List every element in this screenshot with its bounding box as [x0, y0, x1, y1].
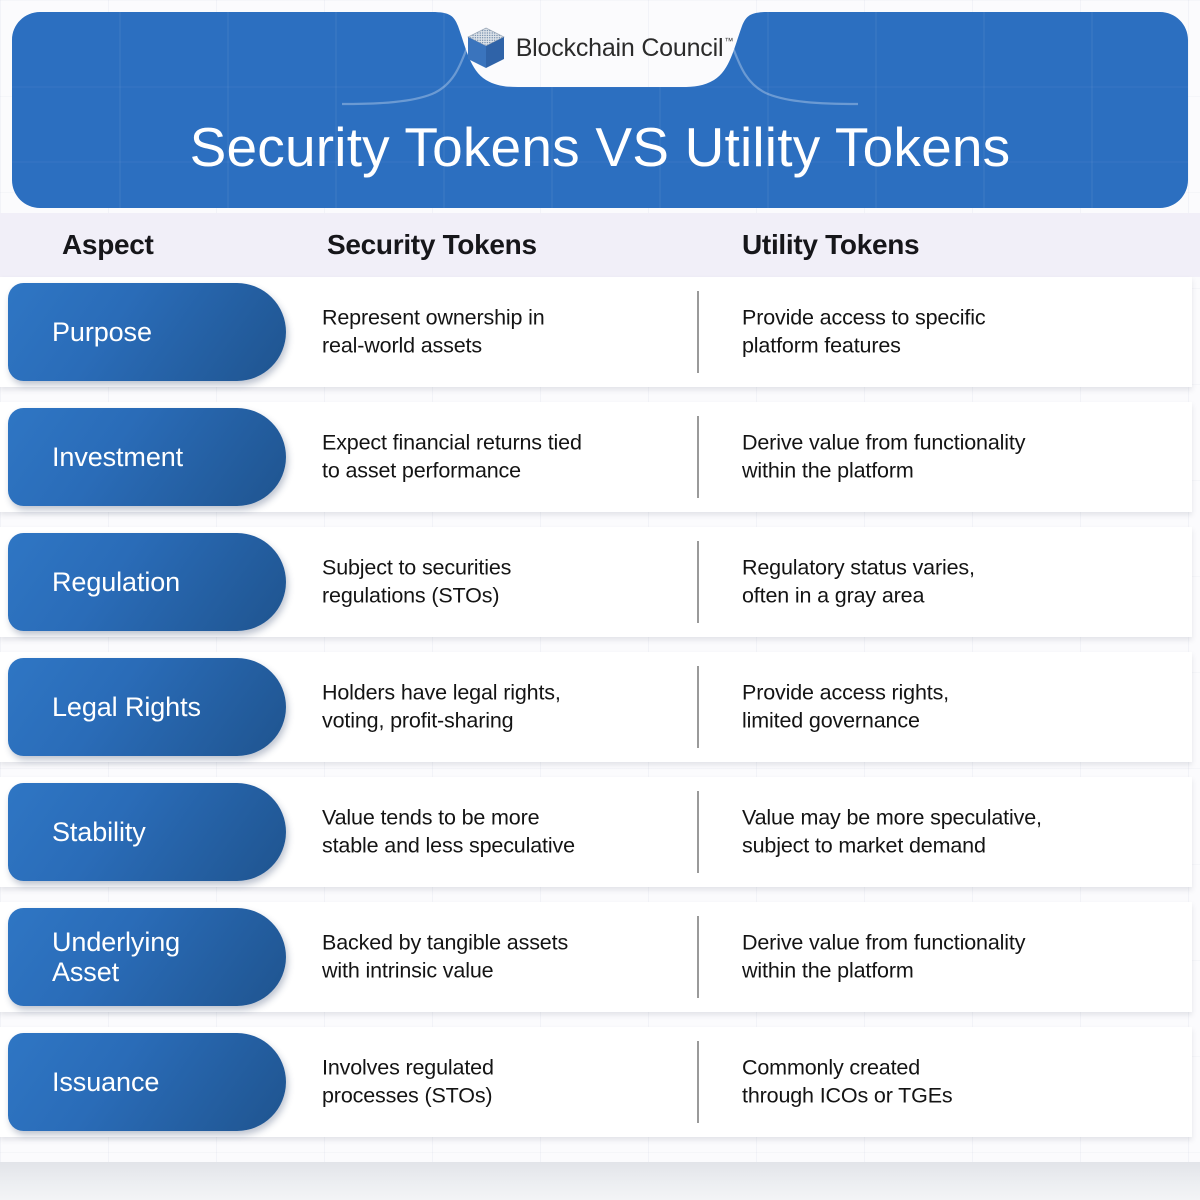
aspect-label: Purpose — [8, 317, 222, 348]
utility-token-cell: Derive value from functionality within t… — [742, 929, 1172, 986]
column-divider — [697, 791, 699, 873]
utility-token-cell: Provide access rights, limited governanc… — [742, 679, 1172, 736]
table-row: Regulation Subject to securities regulat… — [0, 527, 1192, 637]
header-banner: Blockchain Council ™ Security Tokens VS … — [12, 12, 1188, 208]
security-token-cell: Backed by tangible assets with intrinsic… — [322, 929, 682, 986]
column-divider — [697, 916, 699, 998]
table-row: Underlying Asset Backed by tangible asse… — [0, 902, 1192, 1012]
aspect-label: Investment — [8, 442, 253, 473]
column-divider — [697, 291, 699, 373]
aspect-pill: Investment — [8, 408, 286, 506]
column-divider — [697, 666, 699, 748]
brand-logo: Blockchain Council ™ — [12, 20, 1188, 76]
security-token-cell: Expect financial returns tied to asset p… — [322, 429, 682, 486]
table-row: Investment Expect financial returns tied… — [0, 402, 1192, 512]
bottom-strip — [0, 1162, 1200, 1200]
aspect-label: Issuance — [8, 1067, 229, 1098]
table-body: Purpose Represent ownership in real-worl… — [0, 277, 1200, 1152]
table-row: Issuance Involves regulated processes (S… — [0, 1027, 1192, 1137]
security-token-cell: Value tends to be more stable and less s… — [322, 804, 682, 861]
table-row: Stability Value tends to be more stable … — [0, 777, 1192, 887]
security-token-cell: Represent ownership in real-world assets — [322, 304, 682, 361]
aspect-pill: Underlying Asset — [8, 908, 286, 1006]
aspect-pill: Purpose — [8, 283, 286, 381]
table-row: Purpose Represent ownership in real-worl… — [0, 277, 1192, 387]
column-header-security: Security Tokens — [327, 213, 537, 277]
utility-token-cell: Derive value from functionality within t… — [742, 429, 1172, 486]
column-header-aspect: Aspect — [62, 213, 154, 277]
utility-token-cell: Value may be more speculative, subject t… — [742, 804, 1172, 861]
aspect-label: Stability — [8, 817, 216, 848]
utility-token-cell: Commonly created through ICOs or TGEs — [742, 1054, 1172, 1111]
brand-name: Blockchain Council — [516, 36, 724, 61]
trademark-symbol: ™ — [724, 37, 733, 46]
column-divider — [697, 1041, 699, 1123]
aspect-label: Underlying Asset — [8, 927, 250, 988]
aspect-label: Regulation — [8, 567, 250, 598]
column-divider — [697, 416, 699, 498]
table-column-header: Aspect Security Tokens Utility Tokens — [0, 213, 1200, 277]
utility-token-cell: Provide access to specific platform feat… — [742, 304, 1172, 361]
security-token-cell: Holders have legal rights, voting, profi… — [322, 679, 682, 736]
utility-token-cell: Regulatory status varies, often in a gra… — [742, 554, 1172, 611]
security-token-cell: Subject to securities regulations (STOs) — [322, 554, 682, 611]
page-title: Security Tokens VS Utility Tokens — [12, 120, 1188, 175]
aspect-pill: Legal Rights — [8, 658, 286, 756]
infographic-root: Blockchain Council ™ Security Tokens VS … — [0, 0, 1200, 1200]
security-token-cell: Involves regulated processes (STOs) — [322, 1054, 682, 1111]
column-header-utility: Utility Tokens — [742, 213, 919, 277]
aspect-pill: Stability — [8, 783, 286, 881]
aspect-pill: Issuance — [8, 1033, 286, 1131]
table-row: Legal Rights Holders have legal rights, … — [0, 652, 1192, 762]
column-divider — [697, 541, 699, 623]
aspect-label: Legal Rights — [8, 692, 271, 723]
aspect-pill: Regulation — [8, 533, 286, 631]
blockchain-cube-icon — [467, 27, 505, 69]
